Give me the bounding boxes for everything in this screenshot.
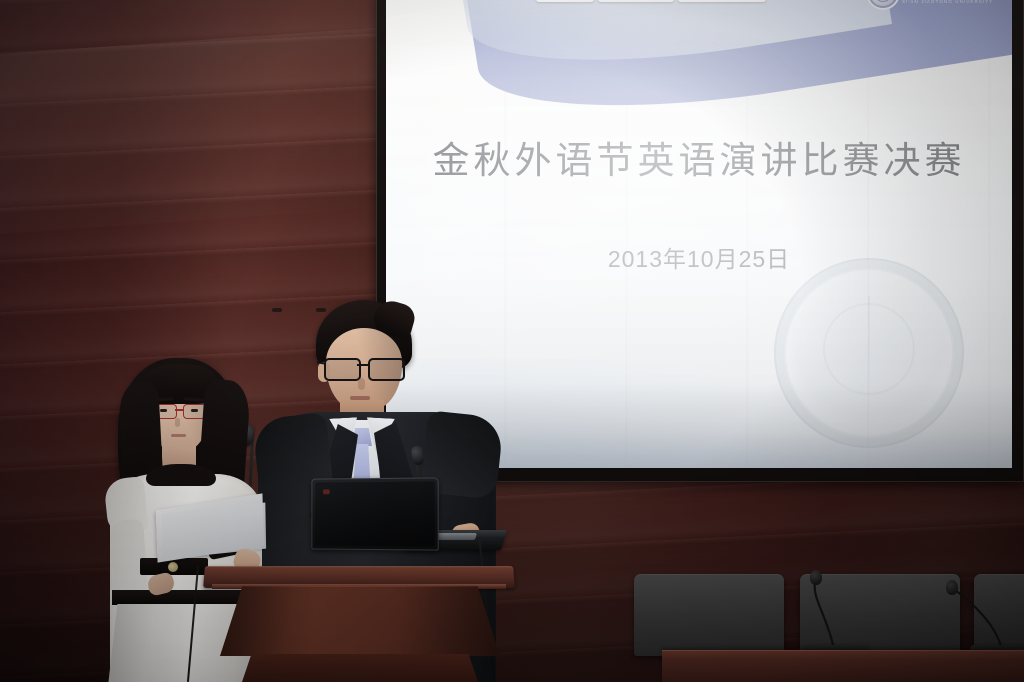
female-nose xyxy=(175,418,180,427)
laptop-indicator xyxy=(323,489,330,494)
laptop xyxy=(311,477,438,550)
female-dress-buckle xyxy=(168,562,178,572)
male-eye-right xyxy=(316,308,326,312)
female-eye-right xyxy=(191,409,198,412)
glasses-icon-male xyxy=(324,358,404,378)
slide-date: 2013年10月25日 xyxy=(386,240,1012,274)
table-mic-head-right xyxy=(946,580,958,595)
lectern-body-shading xyxy=(220,586,500,656)
slide-thumbnail-gray xyxy=(678,0,766,2)
slide-banner xyxy=(462,0,1012,138)
male-glasses-bridge xyxy=(357,364,368,366)
photo-scene: 西安交通大学 XI'AN JIAOTONG UNIVERSITY 金秋外语节英语… xyxy=(0,0,1024,682)
university-logo-icon xyxy=(866,0,900,10)
lectern-base xyxy=(242,654,478,682)
lectern xyxy=(198,556,520,682)
female-glasses-bridge xyxy=(175,409,184,411)
laptop-screen xyxy=(315,481,434,546)
slide-title: 金秋外语节英语演讲比赛决赛 xyxy=(386,130,1012,184)
university-logo-subtext: XI'AN JIAOTONG UNIVERSITY xyxy=(902,0,994,4)
female-mouth xyxy=(171,434,186,437)
male-lens-right xyxy=(368,358,405,381)
slide-thumbnail-dark xyxy=(536,0,594,2)
male-lens-left xyxy=(324,358,361,381)
table-mic-head-center xyxy=(810,570,822,585)
slide-banner-soft xyxy=(457,0,892,90)
judges-table xyxy=(662,650,1024,682)
female-dress-collar xyxy=(146,464,216,486)
male-nose xyxy=(358,378,365,390)
judges-area xyxy=(618,556,1024,682)
slide-thumbnail-green xyxy=(598,0,674,2)
university-logo-inner xyxy=(874,0,892,2)
glasses-icon-female xyxy=(152,404,208,417)
female-eye-left xyxy=(160,409,167,412)
male-eye-left xyxy=(272,308,282,312)
